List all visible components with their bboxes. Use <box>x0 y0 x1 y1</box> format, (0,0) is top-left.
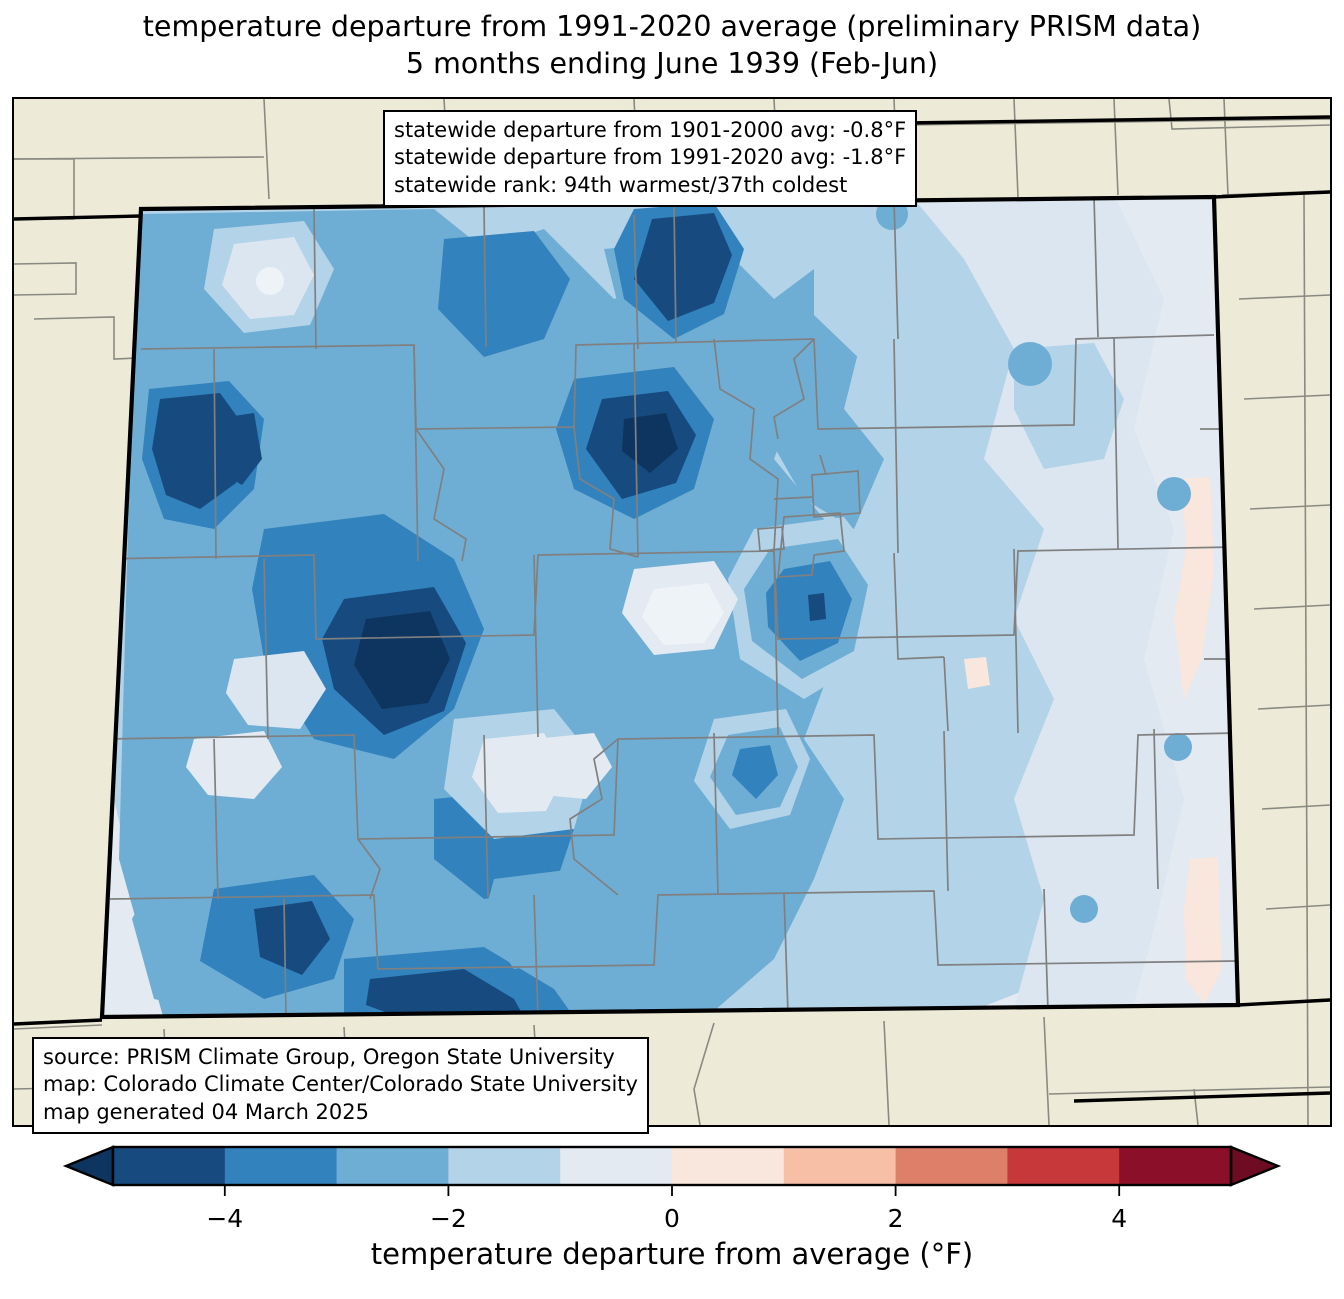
contour-denver-core <box>808 593 826 621</box>
temperature-anomaly-contours <box>74 179 1274 1113</box>
colorbar-band-4 <box>560 1147 672 1185</box>
title-line-1: temperature departure from 1991-2020 ave… <box>0 8 1344 45</box>
colorbar-axis-label: temperature departure from average (°F) <box>0 1237 1344 1271</box>
colorbar-under-arrow <box>66 1147 113 1185</box>
contour-warm-patch-central <box>964 657 990 689</box>
colorbar-tick-label-1: −2 <box>430 1204 467 1233</box>
colorbar-band-5 <box>672 1147 784 1185</box>
colorbar-band-7 <box>896 1147 1008 1185</box>
colorbar-tick-label-4: 4 <box>1111 1204 1127 1233</box>
contour-pale-spot-nw <box>256 267 284 295</box>
colorbar-tick-label-2: 0 <box>664 1204 680 1233</box>
source-line-1: source: PRISM Climate Group, Oregon Stat… <box>43 1044 638 1071</box>
source-line-3: map generated 04 March 2025 <box>43 1099 638 1126</box>
colorado-temperature-anomaly-map <box>14 99 1330 1125</box>
stats-line-1: statewide departure from 1901-2000 avg: … <box>394 117 906 144</box>
map-panel <box>12 97 1332 1127</box>
stats-line-2: statewide departure from 1991-2020 avg: … <box>394 144 906 171</box>
colorbar-band-3 <box>448 1147 560 1185</box>
colorbar-ticks: −4−2024 <box>206 1185 1127 1233</box>
contour-spot-se-1 <box>1070 895 1098 923</box>
source-line-2: map: Colorado Climate Center/Colorado St… <box>43 1071 638 1098</box>
source-credit-box: source: PRISM Climate Group, Oregon Stat… <box>32 1037 649 1134</box>
colorbar-band-6 <box>784 1147 896 1185</box>
colorbar: −4−2024 <box>0 1133 1344 1253</box>
contour-spot-e-1 <box>1164 733 1192 761</box>
colorbar-band-9 <box>1119 1147 1231 1185</box>
map-canvas <box>14 99 1330 1125</box>
colorbar-band-0 <box>113 1147 225 1185</box>
colorbar-band-2 <box>337 1147 449 1185</box>
statewide-stats-box: statewide departure from 1901-2000 avg: … <box>383 110 917 207</box>
colorbar-region: −4−2024 <box>0 1133 1344 1299</box>
colorbar-over-arrow <box>1231 1147 1278 1185</box>
colorbar-tick-label-0: −4 <box>206 1204 243 1233</box>
contour-spot-ne-1 <box>1008 342 1052 386</box>
page-title: temperature departure from 1991-2020 ave… <box>0 8 1344 82</box>
title-line-2: 5 months ending June 1939 (Feb-Jun) <box>0 45 1344 82</box>
climate-map-page: temperature departure from 1991-2020 ave… <box>0 0 1344 1299</box>
contour-spot-ne-2 <box>1157 477 1191 511</box>
stats-line-3: statewide rank: 94th warmest/37th coldes… <box>394 172 906 199</box>
colorbar-bands <box>66 1147 1278 1185</box>
colorbar-band-8 <box>1007 1147 1119 1185</box>
colorbar-tick-label-3: 2 <box>888 1204 904 1233</box>
colorbar-band-1 <box>225 1147 337 1185</box>
